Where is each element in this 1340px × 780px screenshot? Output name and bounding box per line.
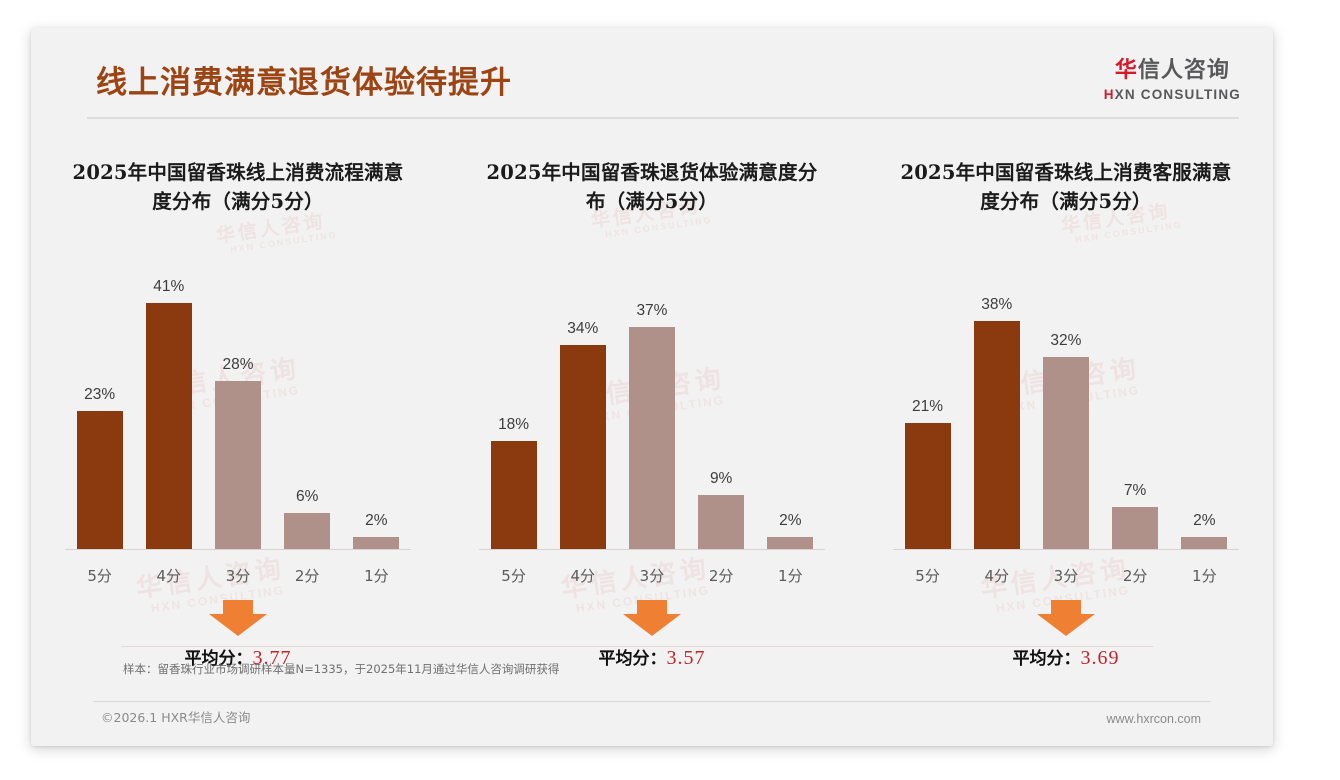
x-tick-label: 2分 — [273, 565, 342, 586]
bar — [1112, 507, 1158, 549]
bar — [353, 537, 399, 549]
logo-hua-char: 华 — [1115, 58, 1138, 83]
bar — [491, 441, 537, 549]
bar-group: 21% 38% 32% 7% — [893, 242, 1239, 549]
bar-chart-2: 18% 34% 37% 9% — [459, 242, 845, 592]
x-tick-label: 2分 — [1101, 565, 1170, 586]
bar — [1181, 537, 1227, 549]
down-arrow-icon — [621, 598, 683, 638]
bar — [698, 495, 744, 549]
bar-value-label: 18% — [498, 416, 529, 434]
chart-panel-1: 2025年中国留香珠线上消费流程满意度分布（满分5分） 23% 41% 28% — [31, 158, 445, 670]
x-axis-line — [479, 549, 825, 550]
chart-panel-3: 2025年中国留香珠线上消费客服满意度分布（满分5分） 21% 38% 32% — [859, 158, 1273, 670]
x-axis-labels: 5分 4分 3分 2分 1分 — [893, 565, 1239, 586]
page-title: 线上消费满意退货体验待提升 — [96, 57, 512, 102]
bar-value-label: 32% — [1050, 332, 1081, 350]
bar — [215, 381, 261, 549]
bar-slot: 37% — [617, 242, 686, 549]
x-tick-label: 1分 — [1170, 565, 1239, 586]
charts-row: 2025年中国留香珠线上消费流程满意度分布（满分5分） 23% 41% 28% — [31, 158, 1273, 670]
bar-value-label: 2% — [779, 512, 801, 530]
bar-slot: 9% — [687, 242, 756, 549]
bar — [560, 345, 606, 549]
average-score-label: 平均分： — [1012, 649, 1080, 669]
x-tick-label: 4分 — [134, 565, 203, 586]
bar-value-label: 6% — [296, 488, 318, 506]
bar-value-label: 23% — [84, 386, 115, 404]
footer-website[interactable]: www.hxrcon.com — [1107, 712, 1201, 726]
logo-english-text: HXN CONSULTING — [1104, 87, 1241, 102]
average-score-value: 3.69 — [1080, 647, 1119, 669]
logo-en-rest: XN CONSULTING — [1115, 87, 1241, 102]
arrow-area — [45, 594, 431, 640]
logo-cn-rest: 信人咨询 — [1138, 58, 1230, 83]
header-divider — [87, 117, 1239, 119]
bar-value-label: 2% — [1193, 512, 1215, 530]
chart-title: 2025年中国留香珠退货体验满意度分布（满分5分） — [459, 158, 845, 216]
logo-chinese-text: 华信人咨询 — [1104, 58, 1241, 84]
average-score-value: 3.57 — [666, 647, 705, 669]
bar — [146, 303, 192, 549]
bar-group: 18% 34% 37% 9% — [479, 242, 825, 549]
bar-value-label: 7% — [1124, 482, 1146, 500]
bar-group: 23% 41% 28% 6% — [65, 242, 411, 549]
bar-slot: 18% — [479, 242, 548, 549]
average-score-label: 平均分： — [598, 649, 666, 669]
bar — [1043, 357, 1089, 549]
logo-h-char: H — [1104, 87, 1115, 102]
chart-title: 2025年中国留香珠线上消费客服满意度分布（满分5分） — [873, 158, 1259, 216]
source-divider — [121, 646, 1153, 647]
x-axis-labels: 5分 4分 3分 2分 1分 — [479, 565, 825, 586]
bar-slot: 21% — [893, 242, 962, 549]
x-axis-labels: 5分 4分 3分 2分 1分 — [65, 565, 411, 586]
bar-slot: 41% — [134, 242, 203, 549]
bar-slot: 34% — [548, 242, 617, 549]
x-tick-label: 5分 — [65, 565, 134, 586]
bar-slot: 6% — [273, 242, 342, 549]
bar-slot: 7% — [1101, 242, 1170, 549]
down-arrow-icon — [207, 598, 269, 638]
x-tick-label: 4分 — [548, 565, 617, 586]
bar-value-label: 37% — [636, 302, 667, 320]
x-tick-label: 5分 — [893, 565, 962, 586]
chart-title: 2025年中国留香珠线上消费流程满意度分布（满分5分） — [45, 158, 431, 216]
bar — [77, 411, 123, 549]
x-tick-label: 5分 — [479, 565, 548, 586]
bar-chart-3: 21% 38% 32% 7% — [873, 242, 1259, 592]
bar — [767, 537, 813, 549]
x-axis-line — [893, 549, 1239, 550]
x-tick-label: 3分 — [203, 565, 272, 586]
x-tick-label: 3分 — [1031, 565, 1100, 586]
x-tick-label: 3分 — [617, 565, 686, 586]
bar — [905, 423, 951, 549]
bar-value-label: 38% — [981, 296, 1012, 314]
average-score: 平均分：3.69 — [873, 644, 1259, 670]
bar-value-label: 21% — [912, 398, 943, 416]
bar — [284, 513, 330, 549]
bar-slot: 2% — [1170, 242, 1239, 549]
bar — [629, 327, 675, 549]
x-tick-label: 1分 — [342, 565, 411, 586]
slide-card: 华信人咨询 HXN CONSULTING 华信人咨询 HXN CONSULTIN… — [31, 28, 1273, 746]
bar-slot: 28% — [203, 242, 272, 549]
x-axis-line — [65, 549, 411, 550]
bar-chart-1: 23% 41% 28% 6% — [45, 242, 431, 592]
bar-slot: 38% — [962, 242, 1031, 549]
arrow-area — [873, 594, 1259, 640]
brand-logo: 华信人咨询 HXN CONSULTING — [1104, 58, 1241, 102]
footer-divider — [93, 701, 1211, 702]
down-arrow-icon — [1035, 598, 1097, 638]
slide-header: 线上消费满意退货体验待提升 华信人咨询 HXN CONSULTING — [31, 28, 1273, 118]
bar — [974, 321, 1020, 549]
bar-slot: 23% — [65, 242, 134, 549]
bar-value-label: 28% — [222, 356, 253, 374]
x-tick-label: 2分 — [687, 565, 756, 586]
arrow-area — [459, 594, 845, 640]
bar-value-label: 2% — [365, 512, 387, 530]
bar-slot: 2% — [342, 242, 411, 549]
bar-value-label: 34% — [567, 320, 598, 338]
bar-slot: 32% — [1031, 242, 1100, 549]
bar-value-label: 9% — [710, 470, 732, 488]
chart-panel-2: 2025年中国留香珠退货体验满意度分布（满分5分） 18% 34% 37% — [445, 158, 859, 670]
bar-slot: 2% — [756, 242, 825, 549]
x-tick-label: 4分 — [962, 565, 1031, 586]
footer-copyright: ©2026.1 HXR华信人咨询 — [101, 707, 250, 726]
source-note: 样本：留香珠行业市场调研样本量N=1335，于2025年11月通过华信人咨询调研… — [123, 661, 559, 677]
bar-value-label: 41% — [153, 278, 184, 296]
x-tick-label: 1分 — [756, 565, 825, 586]
